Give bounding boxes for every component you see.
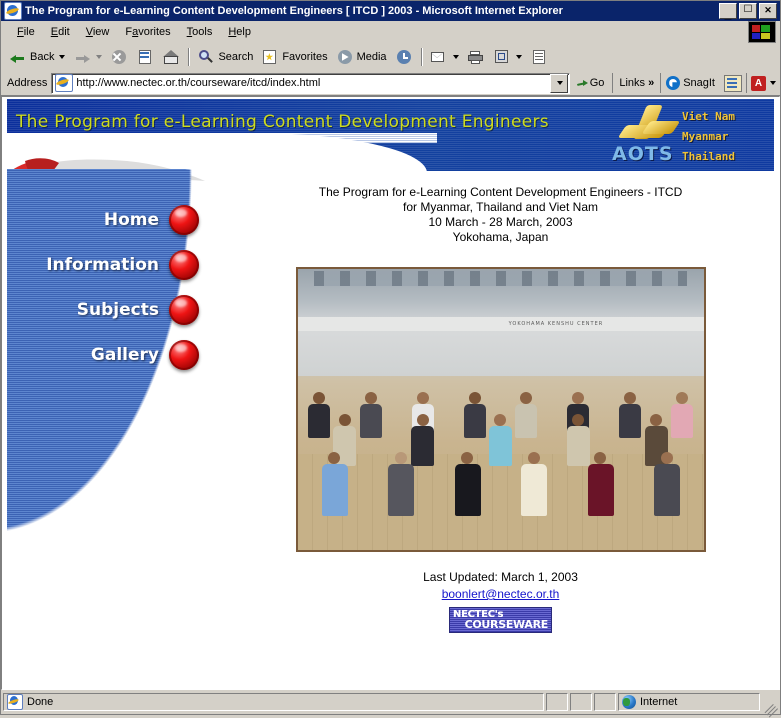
menu-bar: File Edit View Favorites Tools Help: [1, 21, 780, 44]
main-content: The Program for e-Learning Content Devel…: [234, 185, 767, 633]
toolbar-separator-2: [421, 48, 422, 66]
photo-windows: [314, 271, 688, 286]
close-button[interactable]: ✕: [759, 3, 777, 19]
aots-logo-block: AOTS Viet Nam Myanmar Thailand: [600, 103, 768, 167]
sidebar-item-information[interactable]: Information: [7, 242, 205, 287]
site-banner: The Program for e-Learning Content Devel…: [7, 99, 774, 171]
security-zone-label: Internet: [640, 696, 677, 708]
refresh-icon: [136, 48, 154, 66]
page-viewport: The Program for e-Learning Content Devel…: [1, 96, 780, 690]
heading-line-1: The Program for e-Learning Content Devel…: [234, 185, 767, 200]
window-controls: _ ☐ ✕: [719, 3, 778, 19]
address-label: Address: [7, 77, 47, 89]
stop-icon: [110, 48, 128, 66]
photo-facade-band: [298, 317, 704, 331]
browser-window: The Program for e-Learning Content Devel…: [0, 0, 781, 715]
sidebar-item-label: Gallery: [91, 345, 159, 365]
forward-dropdown-icon[interactable]: [96, 55, 102, 59]
favorites-button[interactable]: Favorites: [257, 46, 331, 68]
sidebar-item-label: Subjects: [77, 300, 159, 320]
pdf-dropdown-icon[interactable]: [770, 81, 776, 85]
status-pane-3: [570, 693, 592, 711]
red-button-icon[interactable]: [169, 295, 199, 325]
links-chevron-icon[interactable]: »: [648, 77, 654, 89]
pdf-toolbar-button[interactable]: [746, 73, 780, 93]
back-dropdown-icon[interactable]: [59, 55, 65, 59]
country-vietnam: Viet Nam: [682, 107, 766, 127]
printer-icon: [467, 48, 485, 66]
menu-file[interactable]: File: [9, 24, 43, 40]
links-button[interactable]: Links »: [612, 73, 660, 93]
chevron-down-icon: [557, 81, 563, 85]
ie-brand-logo-icon: [748, 21, 776, 43]
discuss-icon: [530, 48, 548, 66]
status-message: Done: [27, 696, 53, 708]
title-bar: The Program for e-Learning Content Devel…: [1, 1, 780, 21]
sidebar-item-label: Information: [46, 255, 159, 275]
close-icon: ✕: [760, 4, 776, 16]
discuss-button[interactable]: [526, 46, 552, 68]
group-photo-wrapper: YOKOHAMA KENSHU CENTER: [296, 267, 706, 552]
heading-line-3: 10 March - 28 March, 2003: [234, 215, 767, 230]
nectec-logo-bottom: COURSEWARE: [465, 618, 548, 631]
minimize-icon: _: [720, 11, 736, 18]
media-icon: [336, 48, 354, 66]
menu-view[interactable]: View: [78, 24, 118, 40]
heading-line-4: Yokohama, Japan: [234, 230, 767, 245]
last-updated-text: Last Updated: March 1, 2003: [234, 570, 767, 584]
print-button[interactable]: [463, 46, 489, 68]
internet-explorer-icon: [4, 2, 22, 20]
go-button[interactable]: Go: [570, 77, 613, 89]
adobe-pdf-icon: [751, 76, 766, 91]
home-button[interactable]: [158, 46, 184, 68]
status-bar: Done Internet: [1, 690, 780, 714]
menu-edit[interactable]: Edit: [43, 24, 78, 40]
media-button-label: Media: [357, 51, 387, 63]
page-icon: [55, 74, 73, 92]
snagit-capture-icon[interactable]: [724, 75, 742, 92]
window-title: The Program for e-Learning Content Devel…: [25, 5, 719, 17]
edit-button[interactable]: [489, 46, 526, 68]
favorites-star-icon: [261, 48, 279, 66]
stop-button[interactable]: [106, 46, 132, 68]
navigation-toolbar: Back Search Favorites Media: [1, 44, 780, 71]
country-thailand: Thailand: [682, 147, 766, 167]
menu-tools[interactable]: Tools: [179, 24, 221, 40]
search-button[interactable]: Search: [193, 46, 257, 68]
resize-grip[interactable]: [764, 695, 778, 709]
forward-arrow-icon: [73, 48, 91, 66]
home-icon: [162, 48, 180, 66]
address-dropdown-button[interactable]: [550, 74, 568, 93]
web-page: The Program for e-Learning Content Devel…: [2, 97, 779, 689]
snagit-icon: [666, 76, 680, 90]
red-button-icon[interactable]: [169, 250, 199, 280]
snagit-label: SnagIt: [683, 77, 715, 89]
country-list: Viet Nam Myanmar Thailand: [682, 107, 766, 167]
toolbar-separator: [188, 48, 189, 66]
go-arrow-icon: [576, 77, 588, 89]
program-heading: The Program for e-Learning Content Devel…: [234, 185, 767, 245]
maximize-icon: ☐: [740, 4, 756, 16]
maximize-button[interactable]: ☐: [739, 3, 757, 19]
back-button-label: Back: [30, 51, 54, 63]
go-button-label: Go: [590, 77, 605, 89]
back-arrow-icon: [9, 48, 27, 66]
mail-dropdown-icon[interactable]: [453, 55, 459, 59]
contact-email-link[interactable]: boonlert@nectec.or.th: [442, 587, 560, 601]
red-button-icon[interactable]: [169, 205, 199, 235]
address-url-text: http://www.nectec.or.th/courseware/itcd/…: [76, 77, 549, 89]
status-page-icon: [7, 694, 23, 710]
media-button[interactable]: Media: [332, 46, 391, 68]
security-zone-pane[interactable]: Internet: [618, 693, 760, 711]
snagit-button[interactable]: SnagIt: [660, 73, 720, 93]
sidebar-item-label: Home: [104, 210, 159, 230]
site-title: The Program for e-Learning Content Devel…: [16, 112, 549, 132]
links-label: Links: [619, 77, 645, 89]
history-clock-icon: [395, 48, 413, 66]
nectec-courseware-logo[interactable]: NECTEC's COURSEWARE: [449, 607, 552, 633]
internet-zone-globe-icon: [622, 695, 636, 709]
status-message-pane: Done: [3, 693, 544, 711]
back-button[interactable]: Back: [5, 46, 69, 68]
sidebar-item-gallery[interactable]: Gallery: [7, 332, 205, 377]
aots-wordmark: AOTS: [612, 143, 674, 165]
minimize-button[interactable]: _: [719, 3, 737, 19]
page-footer: Last Updated: March 1, 2003 boonlert@nec…: [234, 570, 767, 633]
aots-mark-icon: AOTS: [612, 105, 688, 155]
forward-button[interactable]: [69, 46, 106, 68]
edit-page-icon: [493, 48, 511, 66]
address-bar: Address http://www.nectec.or.th/coursewa…: [1, 71, 780, 96]
menu-favorites[interactable]: Favorites: [117, 24, 178, 40]
group-photo: YOKOHAMA KENSHU CENTER: [296, 267, 706, 552]
nav-list: Home Information Subjects Gallery: [7, 197, 205, 377]
edit-dropdown-icon[interactable]: [516, 55, 522, 59]
red-button-icon[interactable]: [169, 340, 199, 370]
address-input[interactable]: http://www.nectec.or.th/courseware/itcd/…: [51, 73, 569, 94]
history-button[interactable]: [391, 46, 417, 68]
mail-button[interactable]: [426, 46, 463, 68]
status-pane-2: [546, 693, 568, 711]
photo-row-front: [322, 452, 679, 516]
mail-envelope-icon: [430, 48, 448, 66]
refresh-button[interactable]: [132, 46, 158, 68]
search-button-label: Search: [218, 51, 253, 63]
heading-line-2: for Myanmar, Thailand and Viet Nam: [234, 200, 767, 215]
sidebar-item-subjects[interactable]: Subjects: [7, 287, 205, 332]
status-pane-4: [594, 693, 616, 711]
country-myanmar: Myanmar: [682, 127, 766, 147]
sidebar-item-home[interactable]: Home: [7, 197, 205, 242]
search-icon: [197, 48, 215, 66]
photo-building-sign: YOKOHAMA KENSHU CENTER: [509, 321, 604, 327]
menu-help[interactable]: Help: [220, 24, 259, 40]
favorites-button-label: Favorites: [282, 51, 327, 63]
site-navigation-sidebar: Home Information Subjects Gallery: [7, 169, 225, 690]
